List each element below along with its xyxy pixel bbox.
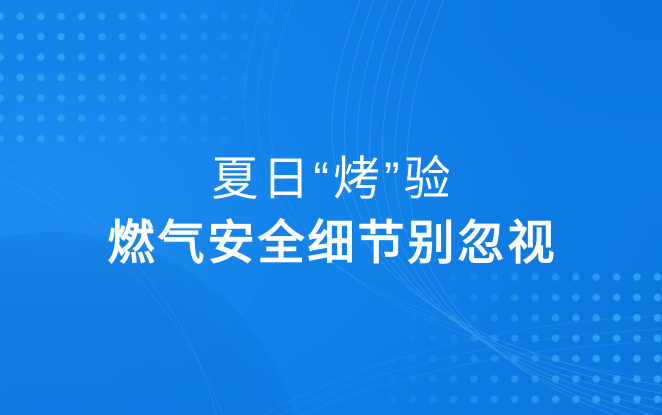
gas-safety-banner: 夏日“烤”验 燃气安全细节别忽视: [0, 0, 662, 415]
headline-line-2: 燃气安全细节别忽视: [105, 218, 558, 268]
headline-line-1: 夏日“烤”验: [207, 154, 454, 204]
headline-block: 夏日“烤”验 燃气安全细节别忽视: [0, 0, 662, 415]
